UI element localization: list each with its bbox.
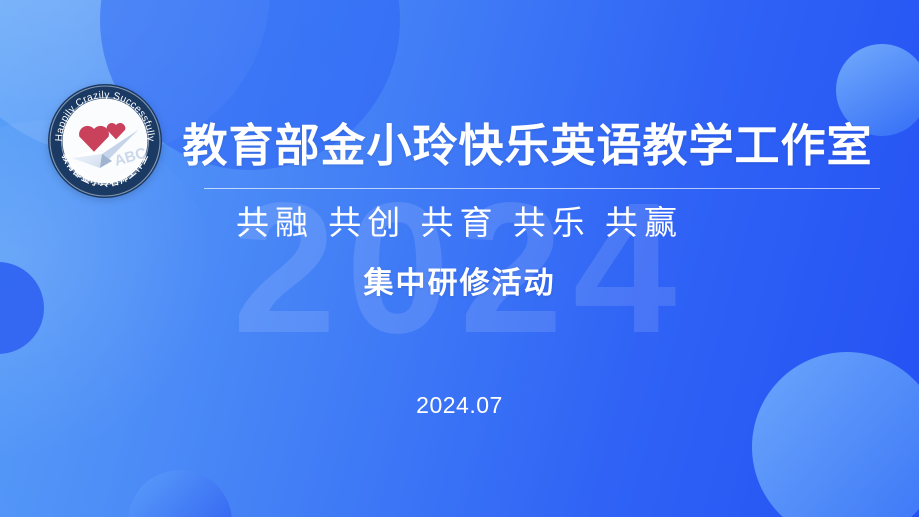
slide-content: Happily Crazily Successfully 教育部金小玲名师工作室… [0,0,919,517]
title-divider [204,188,880,189]
workshop-logo: Happily Crazily Successfully 教育部金小玲名师工作室… [46,82,164,200]
slide-date: 2024.07 [0,392,919,419]
presentation-slide: 2024 [0,0,919,517]
page-title: 教育部金小玲快乐英语教学工作室 [182,109,872,174]
slide-subtitle: 共融 共创 共育 共乐 共赢 [0,196,919,244]
header-row: Happily Crazily Successfully 教育部金小玲名师工作室… [0,82,919,200]
event-title: 集中研修活动 [0,258,919,302]
